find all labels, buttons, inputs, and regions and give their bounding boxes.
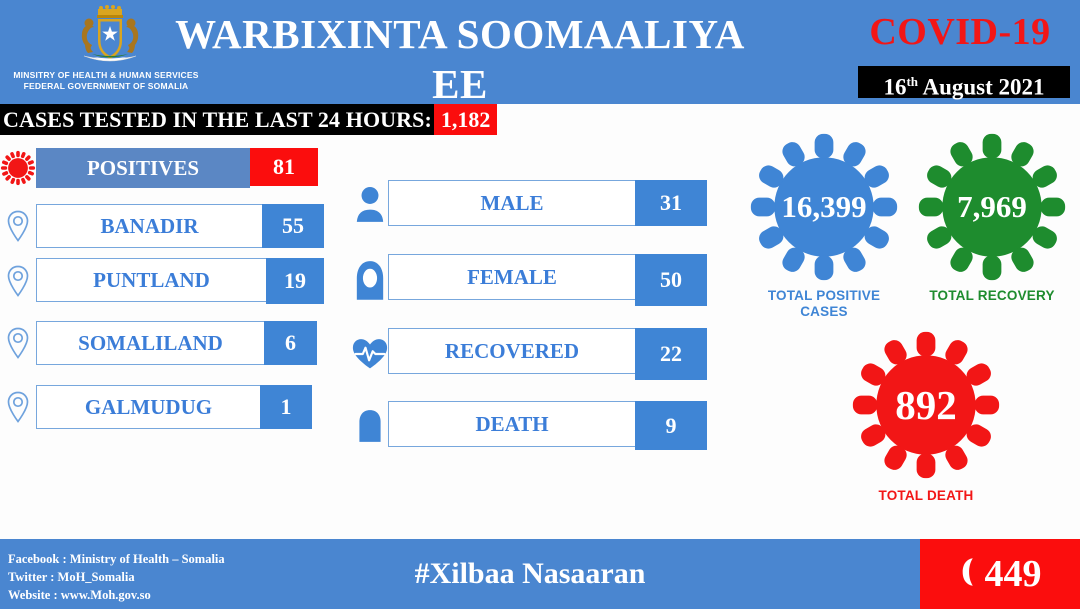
tombstone-icon — [352, 406, 388, 446]
region-value: 1 — [260, 385, 312, 429]
demographic-value: 22 — [635, 328, 707, 380]
tested-value: 1,182 — [434, 104, 498, 135]
region-value: 6 — [264, 321, 317, 365]
region-label: SOMALILAND — [36, 321, 264, 365]
total-positive-cases-panel: 16,399 TOTAL POSITIVE CASES — [744, 132, 904, 320]
total-death-panel: 892 TOTAL DEATH — [846, 330, 1006, 504]
campaign-hashtag: #Xilbaa Nasaaran — [300, 556, 760, 592]
facebook-link[interactable]: Facebook : Ministry of Health – Somalia — [8, 550, 225, 568]
region-row: PUNTLAND 19 — [0, 258, 324, 304]
demographic-label: MALE — [388, 180, 635, 226]
demographic-row: FEMALE 50 — [352, 254, 707, 306]
region-row: BANADIR 55 — [0, 204, 324, 248]
twitter-link[interactable]: Twitter : MoH_Somalia — [8, 568, 225, 586]
positives-bar: POSITIVES 81 — [36, 148, 318, 188]
demographic-value: 9 — [635, 401, 707, 450]
date-day: 16 — [883, 75, 906, 100]
demographic-bar: DEATH 9 — [388, 401, 707, 450]
website-link[interactable]: Website : www.Moh.gov.so — [8, 586, 225, 604]
phone-icon — [959, 556, 981, 593]
total-death-caption: TOTAL DEATH — [846, 488, 1006, 504]
demographic-row: DEATH 9 — [352, 401, 707, 450]
tested-label: CASES TESTED IN THE LAST 24 HOURS: — [0, 104, 434, 135]
virus-icon — [0, 148, 36, 188]
virus-icon: 16,399 — [749, 132, 899, 282]
positives-label: POSITIVES — [36, 148, 250, 188]
region-bar: BANADIR 55 — [36, 204, 324, 248]
demographic-row: MALE 31 — [352, 180, 707, 226]
region-label: BANADIR — [36, 204, 262, 248]
demographic-bar: RECOVERED 22 — [388, 328, 707, 380]
heart-pulse-icon — [352, 334, 388, 374]
region-row: SOMALILAND 6 — [0, 321, 317, 365]
positives-value: 81 — [250, 148, 318, 186]
region-row: GALMUDUG 1 — [0, 385, 312, 429]
somalia-coat-of-arms-icon — [58, 4, 162, 70]
report-date: 16th August 2021 — [858, 66, 1070, 98]
social-links: Facebook : Ministry of Health – Somalia … — [8, 550, 225, 604]
positives-row: POSITIVES 81 — [0, 148, 318, 188]
total-death-value: 892 — [851, 381, 1001, 429]
region-bar: PUNTLAND 19 — [36, 258, 324, 304]
demographic-label: FEMALE — [388, 254, 635, 300]
region-bar: GALMUDUG 1 — [36, 385, 312, 429]
region-value: 55 — [262, 204, 324, 248]
covid-label: COVID-19 — [860, 8, 1060, 56]
location-pin-icon — [0, 387, 36, 427]
demographic-bar: MALE 31 — [388, 180, 707, 226]
date-suffix: th — [906, 74, 918, 89]
page-header: MINSITRY OF HEALTH & HUMAN SERVICES FEDE… — [0, 0, 1080, 104]
total-positive-cases-value: 16,399 — [749, 189, 899, 225]
demographic-label: DEATH — [388, 401, 635, 447]
location-pin-icon — [0, 206, 36, 246]
region-label: PUNTLAND — [36, 258, 266, 302]
virus-icon: 892 — [851, 330, 1001, 480]
demographic-value: 50 — [635, 254, 707, 306]
location-pin-icon — [0, 323, 36, 363]
total-positive-cases-caption: TOTAL POSITIVE CASES — [759, 288, 889, 320]
total-recovery-value: 7,969 — [917, 189, 1067, 225]
infographic-page: MINSITRY OF HEALTH & HUMAN SERVICES FEDE… — [0, 0, 1080, 609]
location-pin-icon — [0, 261, 36, 301]
total-recovery-panel: 7,969 TOTAL RECOVERY — [912, 132, 1072, 304]
date-rest: August 2021 — [918, 75, 1045, 100]
female-person-icon — [352, 260, 388, 300]
region-bar: SOMALILAND 6 — [36, 321, 317, 365]
total-recovery-caption: TOTAL RECOVERY — [912, 288, 1072, 304]
hotline-number: 449 — [985, 552, 1042, 596]
male-person-icon — [352, 183, 388, 223]
virus-icon: 7,969 — [917, 132, 1067, 282]
demographic-value: 31 — [635, 180, 707, 226]
demographic-bar: FEMALE 50 — [388, 254, 707, 306]
tested-banner: CASES TESTED IN THE LAST 24 HOURS: 1,182 — [0, 104, 497, 135]
page-title: WARBIXINTA SOOMAALIYA EE — [150, 9, 770, 109]
demographic-row: RECOVERED 22 — [352, 328, 707, 380]
page-footer: Facebook : Ministry of Health – Somalia … — [0, 539, 1080, 609]
demographic-label: RECOVERED — [388, 328, 635, 374]
region-label: GALMUDUG — [36, 385, 260, 429]
region-value: 19 — [266, 258, 324, 304]
hotline-box: 449 — [920, 539, 1080, 609]
